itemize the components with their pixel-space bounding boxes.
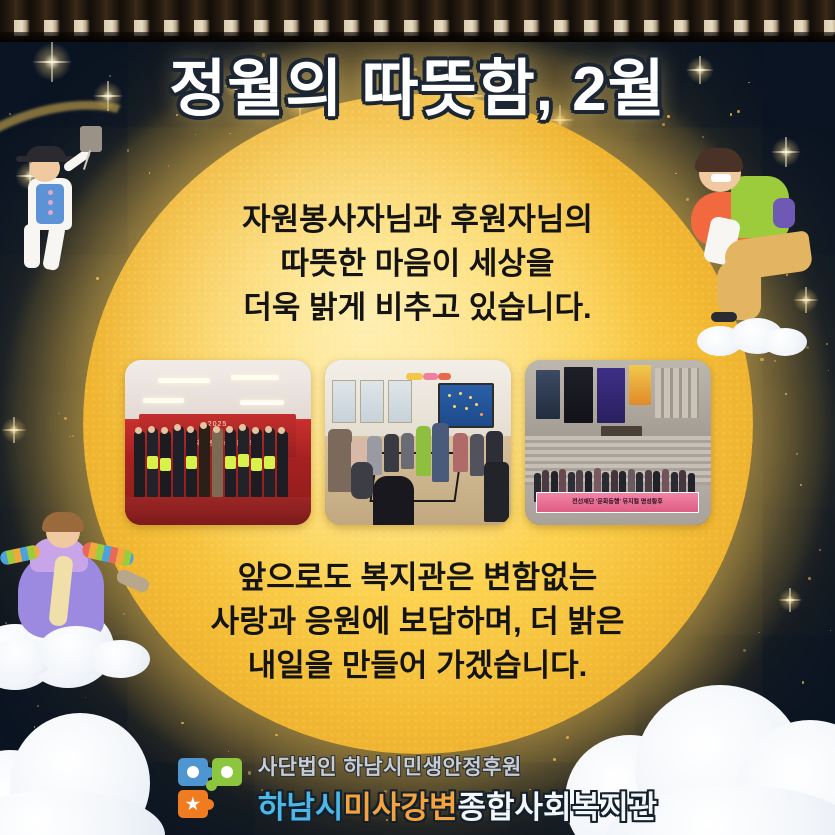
photo-community-hall-program xyxy=(325,360,511,525)
bottom-message: 앞으로도 복지관은 변함없는 사랑과 응원에 보답하며, 더 밝은 내일을 만들… xyxy=(0,556,835,688)
hanok-roof-tiles xyxy=(0,0,835,42)
top-message-line-2: 따뜻한 마음이 세상을 xyxy=(0,242,835,286)
org-name-line-1: 사단법인 하남시민생안정후원 xyxy=(258,751,657,781)
bottom-message-line-3: 내일을 만들어 가겠습니다. xyxy=(0,644,835,688)
photo-new-year-ceremony: 2025 빛의 자원봉사 신년음악회 xyxy=(125,360,311,525)
musical-banner-text: 전선재단 '문화동행' 뮤지컬 명성황후 xyxy=(572,497,663,506)
footer-branding: 사단법인 하남시민생안정후원 하남시미사강변종합사회복지관 xyxy=(0,751,835,827)
page-title: 정월의 따뜻함, 2월 xyxy=(0,38,835,128)
top-message-line-1: 자원봉사자님과 후원자님의 xyxy=(0,198,835,242)
poster-canvas: 정월의 따뜻함, 2월 자원봉사자님과 후원자님의 따뜻한 마음이 세상을 더욱… xyxy=(0,0,835,835)
org-name-misagangbyeon: 미사강변 xyxy=(343,790,457,825)
photo-strip: 2025 빛의 자원봉사 신년음악회 xyxy=(0,360,835,525)
puzzle-logo-icon xyxy=(178,758,244,820)
top-message: 자원봉사자님과 후원자님의 따뜻한 마음이 세상을 더욱 밝게 비추고 있습니다… xyxy=(0,198,835,330)
bottom-message-line-1: 앞으로도 복지관은 변함없는 xyxy=(0,556,835,600)
photo-musical-outing: 전선재단 '문화동행' 뮤지컬 명성황후 xyxy=(525,360,711,525)
org-names: 사단법인 하남시민생안정후원 하남시미사강변종합사회복지관 xyxy=(258,751,657,827)
top-message-line-3: 더욱 밝게 비추고 있습니다. xyxy=(0,286,835,330)
bottom-message-line-2: 사랑과 응원에 보답하며, 더 밝은 xyxy=(0,600,835,644)
org-name-hanamsi: 하남시 xyxy=(258,790,344,825)
org-name-line-2: 하남시미사강변종합사회복지관 xyxy=(258,782,657,827)
org-name-welfare-center: 종합사회복지관 xyxy=(458,790,658,825)
